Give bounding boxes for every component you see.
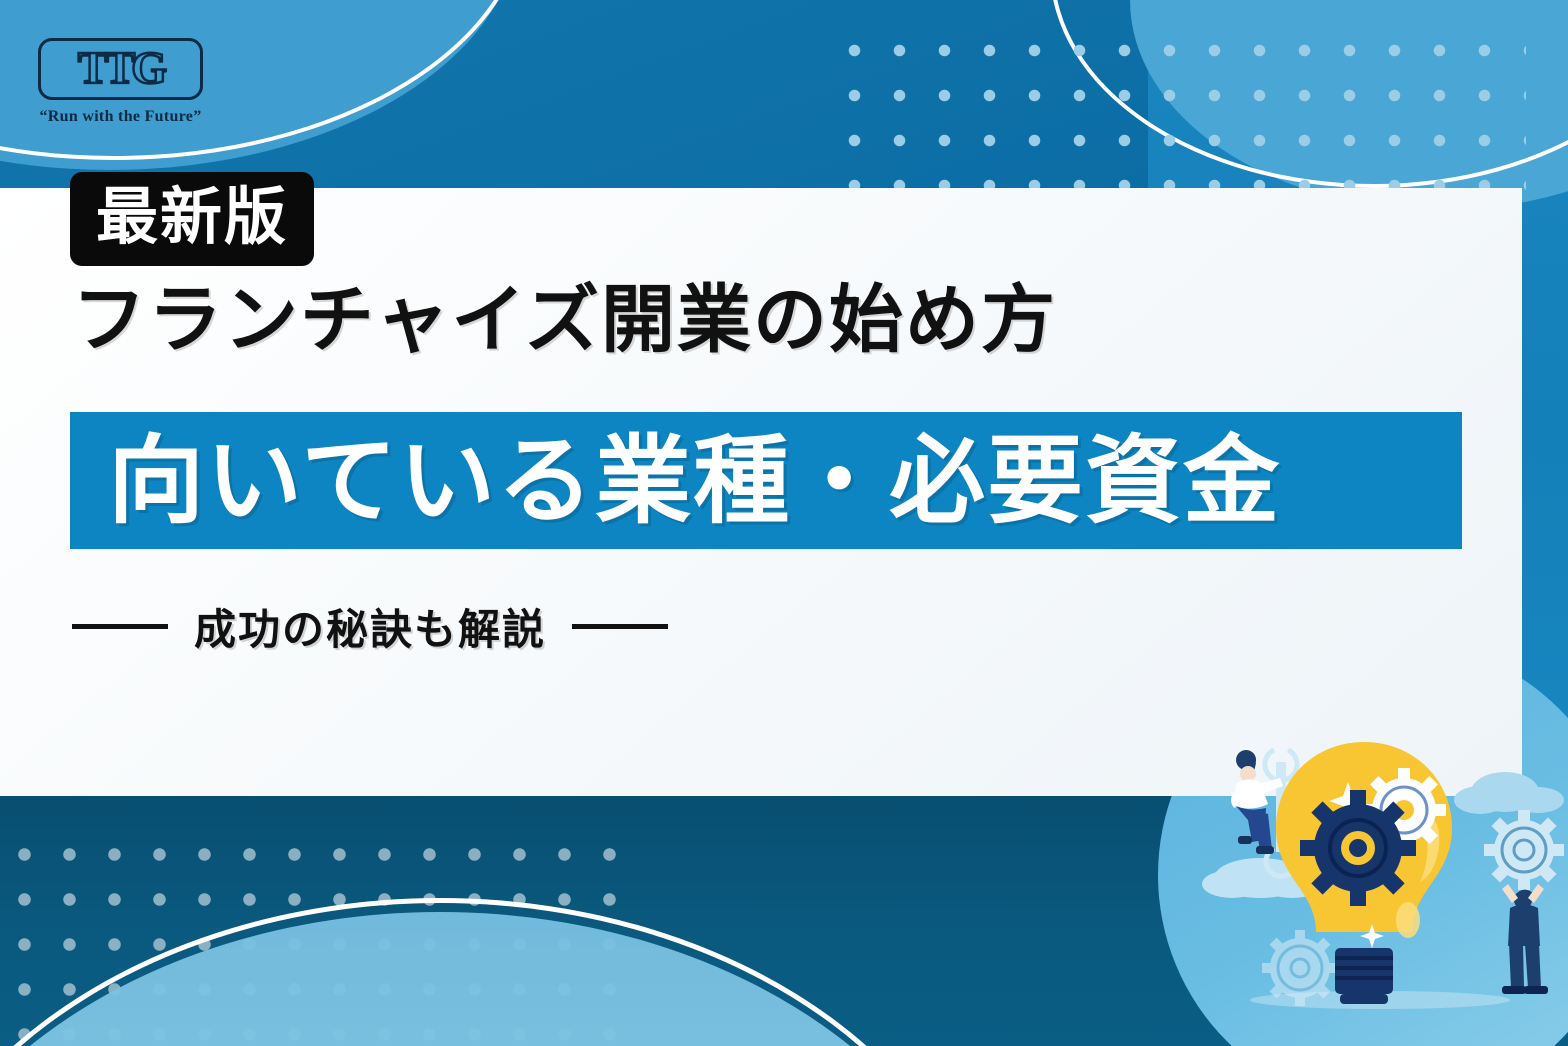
- page-title: フランチャイズ開業の始め方: [72, 282, 1057, 360]
- gear-icon-light: [1484, 810, 1564, 890]
- logo-mark-text: TTG: [78, 45, 163, 93]
- person-lifting-gear-icon: [1484, 810, 1564, 994]
- person-with-wrench-icon: [1231, 750, 1283, 854]
- subtitle-row: 成功の秘訣も解説: [72, 596, 668, 657]
- highlight-band-text: 向いている業種・必要資金: [70, 433, 1281, 529]
- subtitle-text: 成功の秘訣も解説: [194, 596, 546, 657]
- rule-right: [572, 624, 668, 629]
- hero-banner: TTG “Run with the Future” 最新版 フランチャイズ開業の…: [0, 0, 1568, 1046]
- highlight-band: 向いている業種・必要資金: [70, 412, 1462, 549]
- gear-icon-dark: [1300, 790, 1416, 906]
- dot-grid-top-right: [826, 22, 1526, 190]
- ttg-logo-icon: TTG: [38, 38, 203, 100]
- logo-tagline: “Run with the Future”: [38, 108, 203, 126]
- brand-logo[interactable]: TTG “Run with the Future”: [38, 38, 238, 126]
- rule-left: [72, 624, 168, 629]
- status-badge: 最新版: [70, 172, 314, 266]
- lightbulb-gears-teamwork-illustration: [1150, 700, 1568, 1046]
- cloud-icon: [1454, 772, 1564, 814]
- gear-icon-light: [1262, 930, 1338, 1006]
